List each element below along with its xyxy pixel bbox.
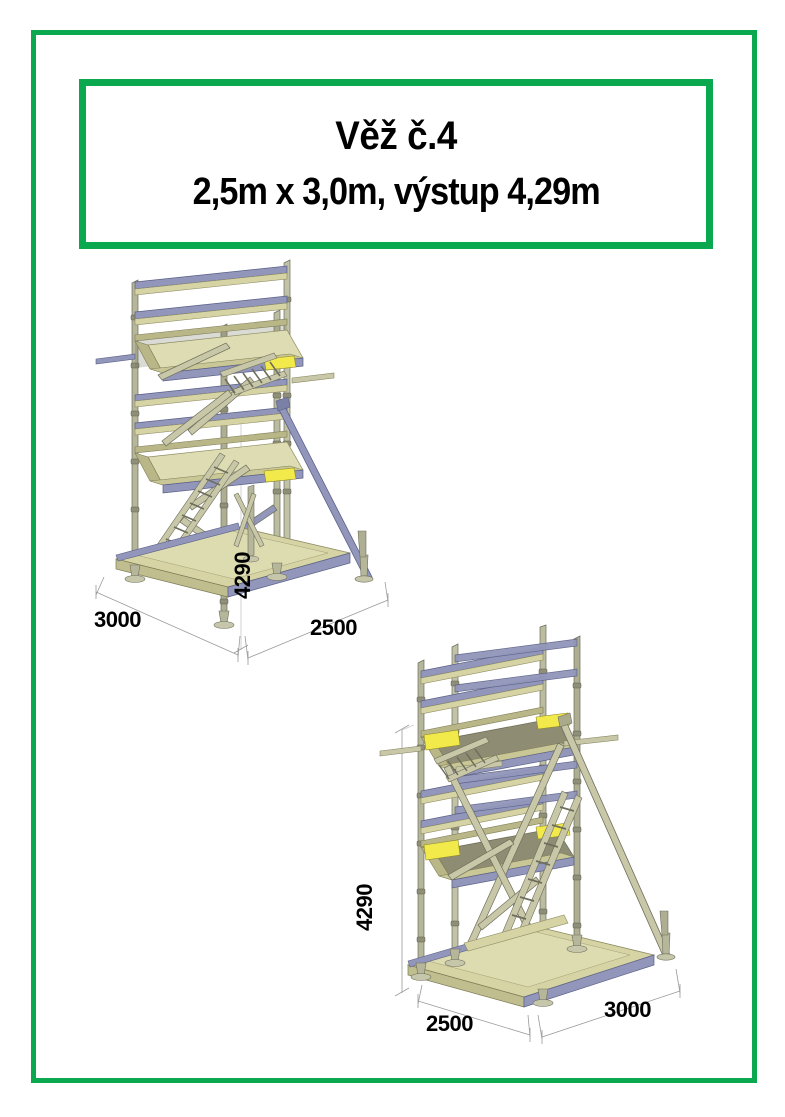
title-box: Věž č.4 2,5m x 3,0m, výstup 4,29m <box>79 79 713 249</box>
dim-right-base-bottom: 3000 <box>604 997 651 1023</box>
dim-left-base-top: 3000 <box>94 607 141 633</box>
tower-1-svg <box>88 255 418 660</box>
page-title: Věž č.4 <box>335 115 457 157</box>
dim-height-top: 4290 <box>230 552 256 599</box>
tower-2-svg <box>378 625 718 1050</box>
page-subtitle: 2,5m x 3,0m, výstup 4,29m <box>192 173 599 213</box>
dim-right-base-top: 2500 <box>310 615 357 641</box>
dim-height-bottom: 4290 <box>352 884 378 931</box>
tower-2-structure <box>380 625 675 1007</box>
dim-left-base-bottom: 2500 <box>426 1011 473 1037</box>
scaffold-drawing-bottom: 4290 2500 3000 <box>378 625 718 1050</box>
scaffold-drawing-top: 3000 2500 4290 <box>88 255 418 660</box>
page-canvas: Věž č.4 2,5m x 3,0m, výstup 4,29m <box>0 0 785 1117</box>
